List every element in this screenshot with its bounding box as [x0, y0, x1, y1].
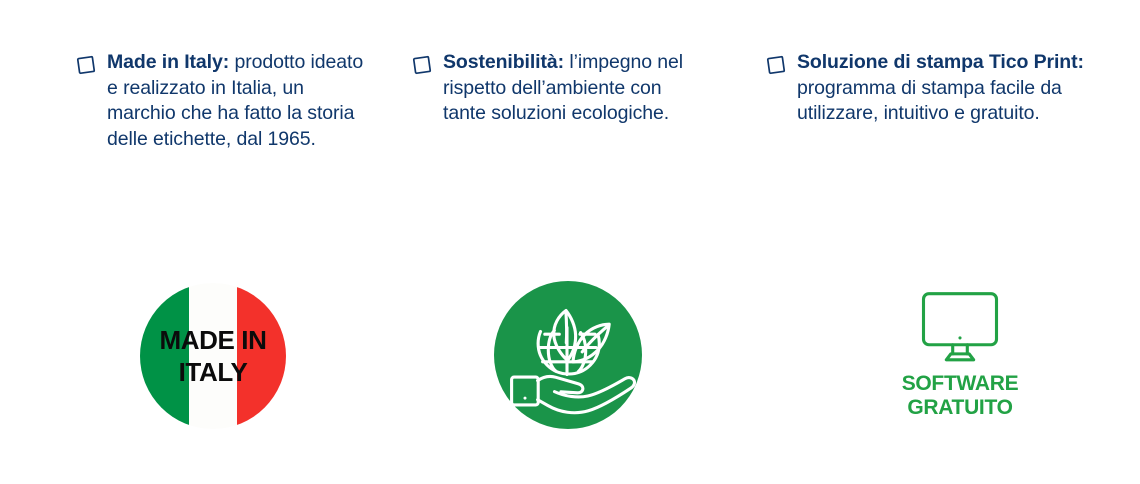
feature-title: Sostenibilità [443, 51, 558, 73]
feature-title-suffix: : [223, 51, 229, 73]
eco-artwork [494, 281, 642, 429]
feature-item-tico-print: Soluzione di stampa Tico Print: programm… [766, 50, 1086, 127]
software-label-line2: GRATUITO [902, 396, 1019, 420]
feature-title: Made in Italy [107, 51, 223, 73]
desktop-monitor-icon [914, 290, 1006, 363]
feature-title-suffix: : [558, 51, 564, 73]
feature-body: programma di stampa facile da utilizzare… [797, 77, 1062, 125]
software-gratuito-label: SOFTWARE GRATUITO [902, 372, 1019, 420]
feature-title: Soluzione di stampa Tico Print [797, 51, 1078, 73]
hand-holding-globe-with-leaves-icon [494, 281, 642, 429]
software-gratuito-badge: SOFTWARE GRATUITO [880, 290, 1040, 420]
feature-text-block: Sostenibilità: l’impegno nel rispetto de… [443, 50, 702, 127]
feature-title-suffix: : [1078, 51, 1084, 73]
feature-list: Made in Italy: prodotto ideato e realizz… [0, 0, 1140, 250]
checkbox-square-icon [766, 55, 786, 75]
feature-item-made-in-italy: Made in Italy: prodotto ideato e realizz… [76, 50, 376, 152]
made-in-italy-line2: ITALY [179, 356, 248, 388]
feature-text-block: Soluzione di stampa Tico Print: programm… [797, 50, 1086, 127]
promo-features-banner: Made in Italy: prodotto ideato e realizz… [0, 0, 1140, 484]
made-in-italy-line1: MADE IN [160, 324, 267, 356]
made-in-italy-label: MADE IN ITALY [140, 283, 286, 429]
checkbox-square-icon [76, 55, 96, 75]
feature-item-sostenibilita: Sostenibilità: l’impegno nel rispetto de… [412, 50, 702, 127]
checkbox-square-icon [412, 55, 432, 75]
software-label-line1: SOFTWARE [902, 372, 1019, 396]
italian-flag-roundel-icon: MADE IN ITALY [140, 283, 286, 429]
feature-text-block: Made in Italy: prodotto ideato e realizz… [107, 50, 376, 152]
